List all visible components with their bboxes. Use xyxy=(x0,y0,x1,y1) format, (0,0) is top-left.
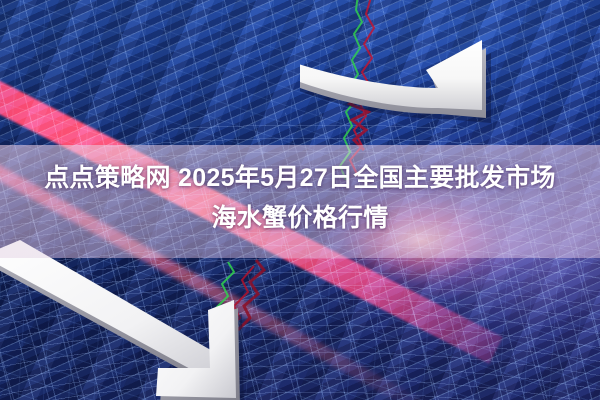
banner-title-line-2: 海水蟹价格行情 xyxy=(0,198,600,238)
banner-title: 点点策略网 2025年5月27日全国主要批发市场 海水蟹价格行情 xyxy=(0,158,600,238)
news-banner-image: 点点策略网 2025年5月27日全国主要批发市场 海水蟹价格行情 xyxy=(0,0,600,400)
banner-title-line-1: 点点策略网 2025年5月27日全国主要批发市场 xyxy=(0,158,600,198)
arrow-right-icon xyxy=(300,0,600,140)
arrow-down-right-icon xyxy=(0,240,310,400)
